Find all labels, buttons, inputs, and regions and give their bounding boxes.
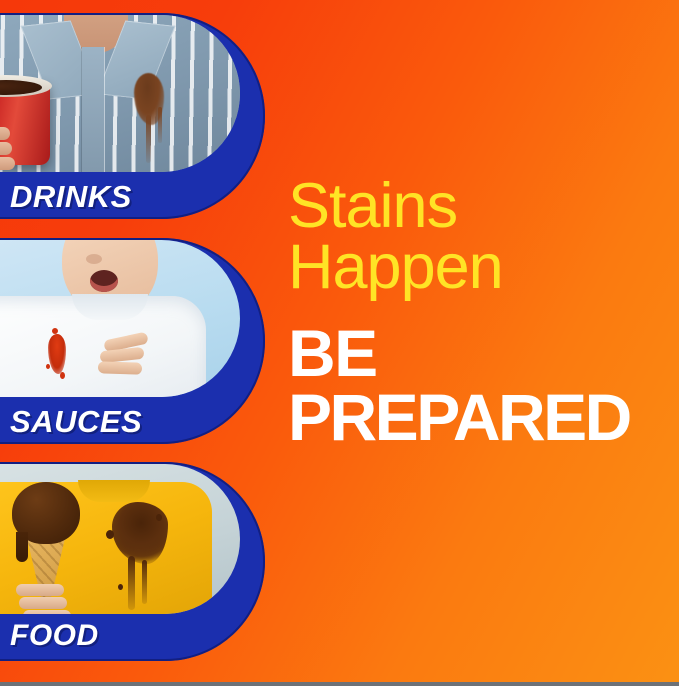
panel-photo-food: [0, 464, 240, 614]
headline-soft-line-1: Stains: [288, 176, 672, 237]
coffee-drip-graphic: [146, 115, 151, 163]
scene-sauces: [0, 240, 240, 397]
advertisement-canvas: DRINKS SAUCES: [0, 0, 679, 686]
chocolate-fleck-graphic: [156, 514, 162, 521]
category-panel-sauces[interactable]: SAUCES: [0, 238, 265, 444]
panel-photo-sauces: [0, 240, 240, 397]
sauce-droplet-graphic: [60, 372, 65, 379]
coffee-drip-secondary-graphic: [158, 107, 162, 143]
hand-graphic: [0, 127, 34, 172]
headline-strong: BE PREPARED: [288, 298, 672, 449]
chocolate-drip-graphic: [128, 556, 135, 610]
bottom-edge-strip: [0, 682, 679, 686]
panel-photo-drinks: [0, 15, 240, 172]
chocolate-fleck-graphic: [106, 530, 114, 539]
headline-copy-block: Stains Happen BE PREPARED: [288, 176, 672, 449]
headline-strong-line-1: BE: [288, 322, 672, 385]
headline-strong-line-2: PREPARED: [288, 386, 672, 449]
child-hand-graphic: [98, 336, 164, 390]
headline-soft-line-2: Happen: [288, 237, 672, 298]
sauce-droplet-graphic: [46, 364, 50, 369]
melting-drip-graphic: [16, 532, 28, 562]
shirt-placket-graphic: [82, 47, 104, 172]
headline-soft: Stains Happen: [288, 176, 672, 298]
category-panel-drinks[interactable]: DRINKS: [0, 13, 265, 219]
chocolate-drip-secondary-graphic: [142, 560, 147, 604]
open-mouth-graphic: [90, 270, 118, 292]
category-panel-stack: DRINKS SAUCES: [0, 0, 268, 686]
child-hand-graphic: [16, 584, 86, 614]
tshirt-neckline-graphic: [78, 480, 150, 502]
category-panel-food[interactable]: FOOD: [0, 462, 265, 661]
category-label-food: FOOD: [10, 621, 99, 651]
scene-food: [0, 464, 240, 614]
category-label-drinks: DRINKS: [10, 181, 132, 212]
nose-graphic: [86, 254, 102, 264]
scene-drinks: [0, 15, 240, 172]
category-label-sauces: SAUCES: [10, 406, 142, 437]
chocolate-fleck-graphic: [118, 584, 123, 590]
sauce-droplet-graphic: [52, 328, 58, 334]
